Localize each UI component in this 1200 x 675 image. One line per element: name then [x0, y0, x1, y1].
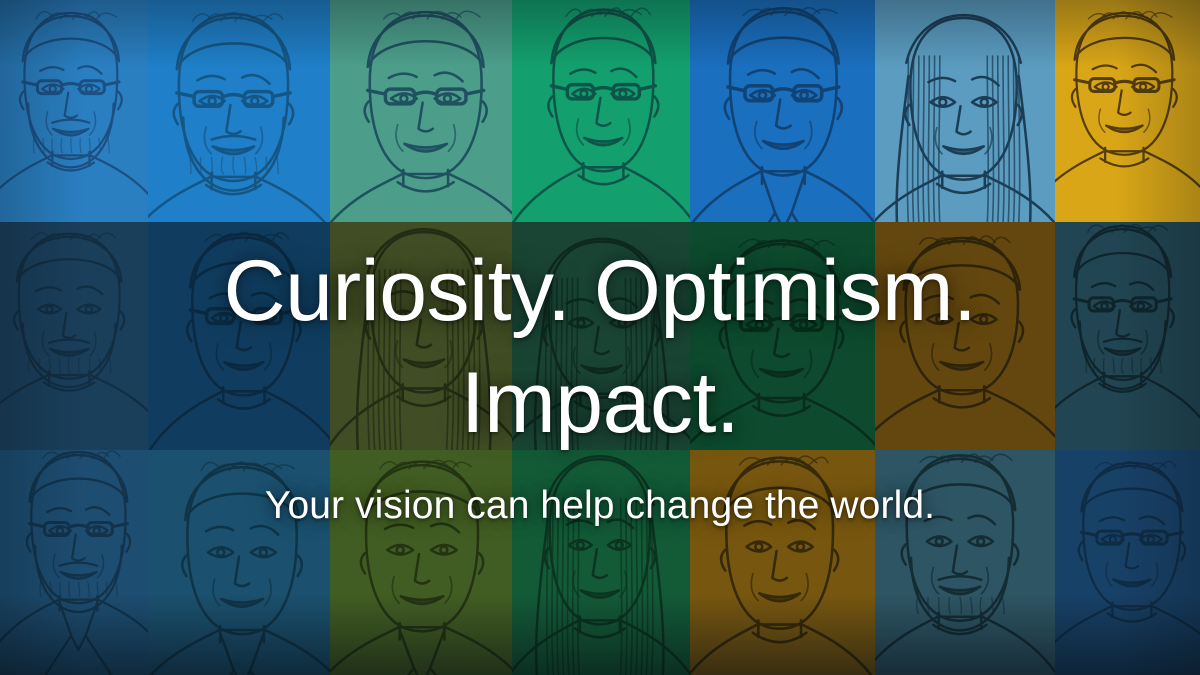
portrait-line-art [512, 450, 690, 675]
mosaic-tile-portrait [330, 0, 512, 222]
mosaic-tile-portrait [148, 450, 330, 675]
mosaic-tile-portrait [1055, 0, 1200, 222]
portrait-line-art [330, 0, 512, 222]
mosaic-tile-portrait [690, 222, 875, 450]
mosaic-tile-portrait [690, 450, 875, 675]
portrait-line-art [1055, 222, 1200, 450]
portrait-line-art [690, 0, 875, 222]
portrait-line-art [690, 450, 875, 675]
mosaic-tile-portrait [875, 0, 1055, 222]
portrait-line-art [1055, 450, 1200, 675]
portrait-line-art [512, 222, 690, 450]
mosaic-tile-portrait [330, 450, 512, 675]
portrait-line-art [0, 450, 148, 675]
mosaic-tile-portrait [148, 222, 330, 450]
portrait-line-art [148, 222, 330, 450]
mosaic-tile-portrait [875, 450, 1055, 675]
portrait-line-art [875, 0, 1055, 222]
portrait-line-art [512, 0, 690, 222]
mosaic-tile-portrait [148, 0, 330, 222]
portrait-line-art [875, 450, 1055, 675]
portrait-line-art [875, 222, 1055, 450]
mosaic-tile-portrait [0, 450, 148, 675]
mosaic-tile-portrait [512, 450, 690, 675]
mosaic-tile-portrait [0, 0, 148, 222]
slide-canvas: Curiosity. Optimism. Impact. Your vision… [0, 0, 1200, 675]
mosaic-tile-portrait [690, 0, 875, 222]
portrait-line-art [148, 450, 330, 675]
mosaic-tile-portrait [0, 222, 148, 450]
mosaic-tile-portrait [875, 222, 1055, 450]
mosaic-tile-portrait [1055, 450, 1200, 675]
portrait-line-art [148, 0, 330, 222]
portrait-mosaic-background [0, 0, 1200, 675]
portrait-line-art [330, 222, 512, 450]
mosaic-tile-portrait [330, 222, 512, 450]
mosaic-tile-portrait [1055, 222, 1200, 450]
portrait-line-art [0, 222, 148, 450]
portrait-line-art [690, 222, 875, 450]
mosaic-tile-portrait [512, 222, 690, 450]
portrait-line-art [0, 0, 148, 222]
mosaic-tile-portrait [512, 0, 690, 222]
portrait-line-art [330, 450, 512, 675]
portrait-line-art [1055, 0, 1200, 222]
